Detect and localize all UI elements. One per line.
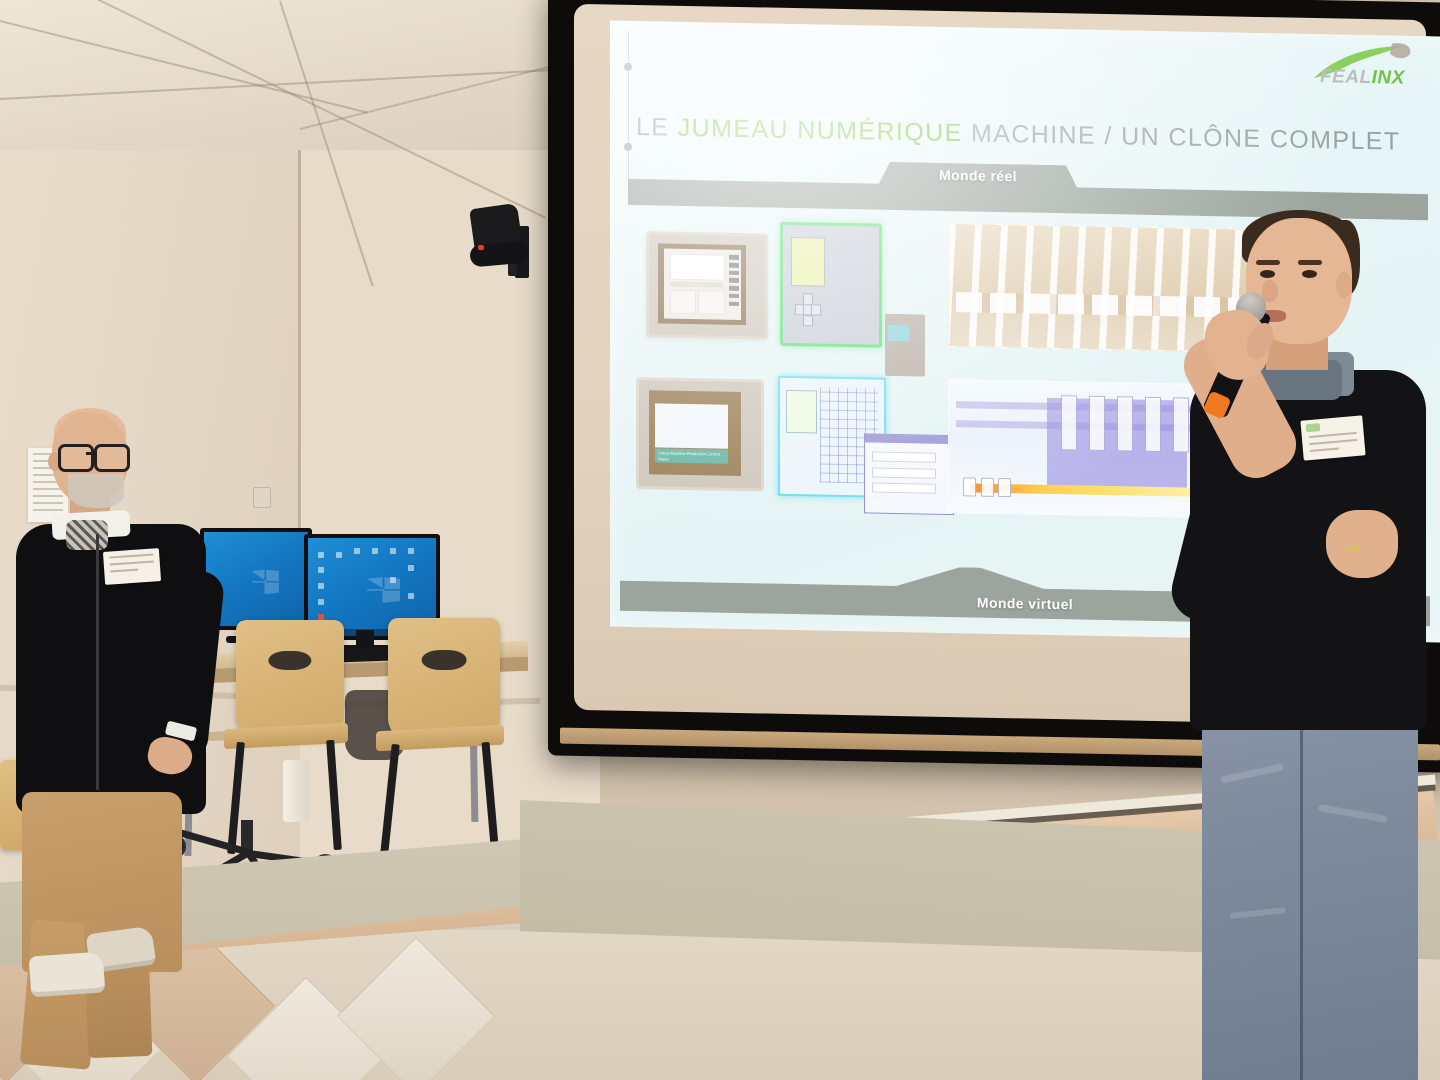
real-hmi-progress [670,282,723,288]
presentation-room-photo: FEALINX LE JUMEAU NUMÉRIQUE MACHINE / UN… [0,0,1440,1080]
presenter-left [0,402,250,1022]
slide-title: LE JUMEAU NUMÉRIQUE MACHINE / UN CLÔNE C… [636,113,1401,157]
slide-title-prefix: LE [636,113,678,142]
presenter-right-jeans-seam [1300,710,1303,1080]
logo-text-feal: FEAL [1320,66,1372,88]
virtual-hmi-preview [655,403,727,448]
chair-handle-hole-2 [422,650,467,670]
banner-monde-virtuel-label: Monde virtuel [977,595,1073,613]
glasses-bridge [86,452,96,455]
camera-led-indicator [478,245,484,250]
real-plc-display [791,237,826,287]
presenter-right-wedding-ring [1346,546,1359,552]
real-hmi-inner [664,248,742,320]
windows-logo-icon [252,570,279,594]
virtual-hmi-panel: Virtual Machine Production Control Panel [636,377,764,491]
real-hmi-softkeys [729,255,739,306]
real-io-module [885,314,925,377]
wooden-chair-left-back[interactable] [236,620,344,740]
fealinx-logo: FEALINX [1306,40,1436,96]
real-hmi-gauge-1 [670,289,696,314]
virtual-plc-display [786,389,817,433]
presenter-right [1150,210,1440,1080]
fealinx-wordmark: FEALINX [1320,66,1405,90]
real-plc-unit [780,222,882,348]
banner-monde-reel-tab: Monde réel [878,162,1078,190]
slide-title-suffix: MACHINE / UN CLÔNE COMPLET [963,119,1401,155]
slide-title-rule [628,31,629,191]
presenter-right-brow-right [1298,260,1322,265]
presenter-left-name-badge [103,548,161,585]
presenter-right-ear [1336,272,1352,298]
slide-title-highlight: JUMEAU NUMÉRIQUE [678,114,963,147]
presenter-left-shoe-1 [29,951,106,997]
paper-roll [283,760,309,822]
virtual-software-window [864,433,954,515]
presenter-left-scarf [66,520,108,550]
presenter-right-hand-lower [1326,510,1398,578]
presenter-right-name-badge [1300,415,1365,460]
slide-title-dot-lower [624,143,632,151]
chair-handle-hole [268,651,311,670]
badge-logo-icon [1306,423,1321,432]
glasses-lens-left [58,444,94,472]
wooden-chair-right-back[interactable] [388,618,500,742]
glasses-lens-right [94,444,130,472]
virtual-window-titlebar [865,434,953,443]
presenter-left-beard [68,474,124,508]
wall-socket [253,487,271,508]
real-hmi-chart [670,254,725,281]
virtual-hmi-caption: Virtual Machine Production Control Panel [655,448,727,465]
slide-title-dot-upper [624,63,632,71]
banner-monde-virtuel-tab [870,565,1070,591]
real-hmi-screen [658,243,746,325]
real-hmi-gauge-2 [698,290,724,315]
real-hmi-panel [646,231,768,339]
real-io-module-band [888,325,909,342]
presenter-right-eye-right [1302,270,1317,278]
virtual-hmi-caption-bar: Virtual Machine Production Control Panel [655,448,727,463]
logo-text-inx: INX [1372,67,1405,89]
real-plc-keypad [795,293,820,324]
presenter-left-zipper [96,534,99,790]
presenter-right-jeans [1202,680,1418,1080]
virtual-hmi-screen: Virtual Machine Production Control Panel [649,390,742,477]
presenter-right-eye-left [1260,270,1275,278]
banner-monde-reel-label: Monde réel [939,167,1017,184]
presenter-right-brow-left [1256,260,1280,265]
